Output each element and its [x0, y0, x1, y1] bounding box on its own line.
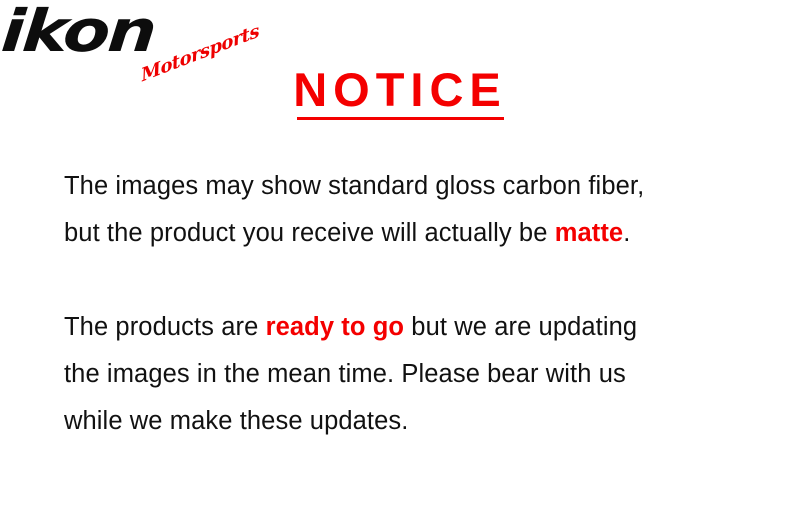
- p1-l1-text: The images may show standard gloss carbo…: [64, 172, 644, 200]
- p2-l1-text-after: but we are updating: [404, 313, 637, 341]
- highlight-matte: matte: [555, 219, 624, 247]
- paragraph-1-line-1: The images may show standard gloss carbo…: [64, 163, 764, 210]
- paragraph-2-line-2: the images in the mean time. Please bear…: [64, 351, 764, 398]
- p2-l2-text: the images in the mean time. Please bear…: [64, 360, 626, 388]
- notice-body-copy: The images may show standard gloss carbo…: [64, 163, 764, 445]
- p2-l3-text: while we make these updates.: [64, 407, 408, 435]
- paragraph-1-line-2: but the product you receive will actuall…: [64, 210, 764, 257]
- heading-underline-rule: [297, 117, 504, 120]
- p1-l2-text-after: .: [623, 219, 630, 247]
- notice-heading-container: NOTICE: [0, 66, 800, 118]
- notice-page: ikon Motorsports NOTICE The images may s…: [0, 0, 800, 510]
- page-title: NOTICE: [293, 66, 507, 118]
- p2-l1-text-before: The products are: [64, 313, 266, 341]
- paragraph-2-line-1: The products are ready to go but we are …: [64, 304, 764, 351]
- paragraph-spacer: [64, 257, 764, 304]
- paragraph-2-line-3: while we make these updates.: [64, 398, 764, 445]
- highlight-ready-to-go: ready to go: [266, 313, 405, 341]
- p1-l2-text-before: but the product you receive will actuall…: [64, 219, 555, 247]
- brand-wordmark-ikon: ikon: [0, 2, 157, 60]
